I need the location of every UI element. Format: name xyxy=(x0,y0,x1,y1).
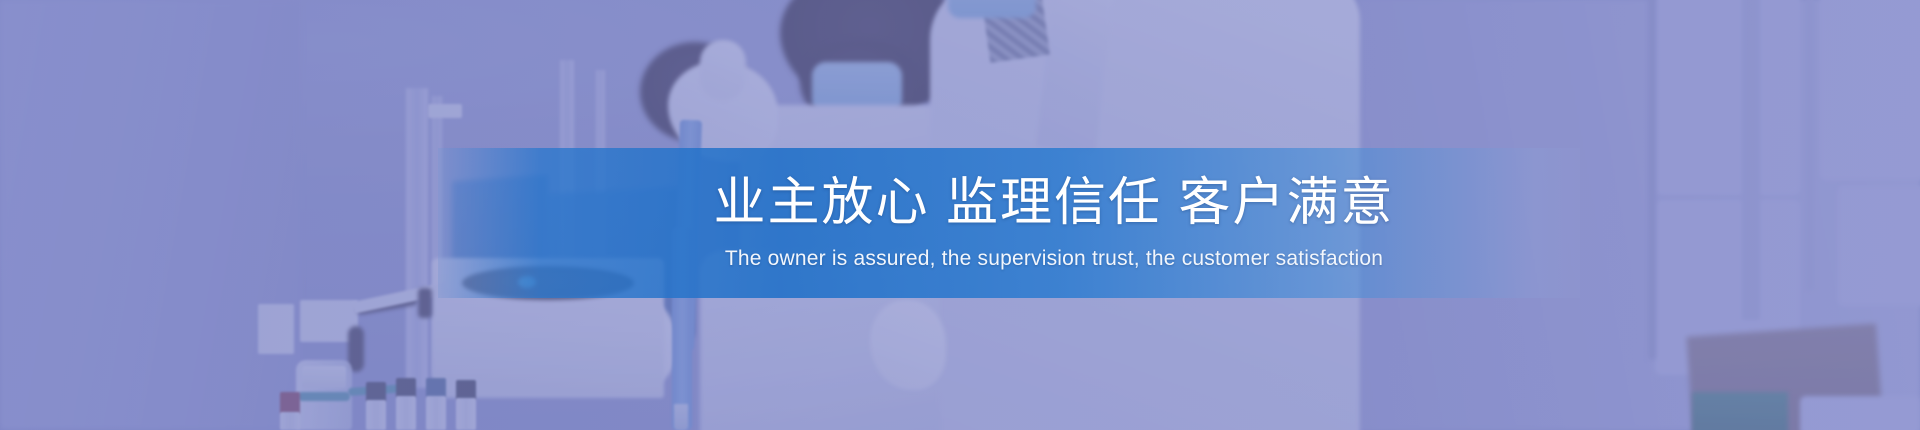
hero-banner: 业主放心 监理信任 客户满意 The owner is assured, the… xyxy=(0,0,1920,430)
caption-band: 业主放心 监理信任 客户满意 The owner is assured, the… xyxy=(438,148,1580,298)
banner-headline: 业主放心 监理信任 客户满意 xyxy=(714,175,1395,232)
caption-band-content: 业主放心 监理信任 客户满意 The owner is assured, the… xyxy=(438,148,1580,298)
banner-subheadline: The owner is assured, the supervision tr… xyxy=(725,247,1383,271)
